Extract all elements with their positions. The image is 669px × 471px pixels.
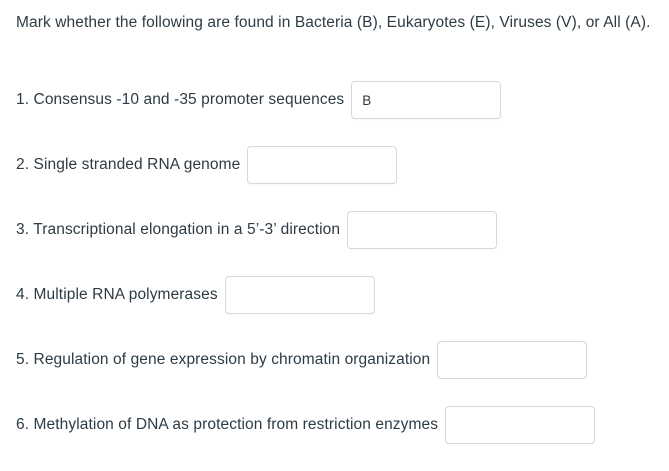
question-row: 2. Single stranded RNA genome xyxy=(16,146,397,184)
answer-input-2[interactable] xyxy=(247,146,397,184)
answer-input-3[interactable] xyxy=(347,211,497,249)
question-row: 3. Transcriptional elongation in a 5’-3’… xyxy=(16,211,497,249)
answer-input-1[interactable] xyxy=(351,81,501,119)
answer-input-6[interactable] xyxy=(445,406,595,444)
question-label-6: 6. Methylation of DNA as protection from… xyxy=(16,415,445,435)
question-label-1: 1. Consensus -10 and -35 promoter sequen… xyxy=(16,90,351,110)
question-row: 4. Multiple RNA polymerases xyxy=(16,276,375,314)
question-label-3: 3. Transcriptional elongation in a 5’-3’… xyxy=(16,220,347,240)
question-row: 5. Regulation of gene expression by chro… xyxy=(16,341,587,379)
question-label-4: 4. Multiple RNA polymerases xyxy=(16,285,225,305)
answer-input-5[interactable] xyxy=(437,341,587,379)
question-row: 1. Consensus -10 and -35 promoter sequen… xyxy=(16,81,501,119)
answer-input-4[interactable] xyxy=(225,276,375,314)
question-label-2: 2. Single stranded RNA genome xyxy=(16,155,247,175)
question-label-5: 5. Regulation of gene expression by chro… xyxy=(16,350,437,370)
question-row: 6. Methylation of DNA as protection from… xyxy=(16,406,595,444)
quiz-question-body: Mark whether the following are found in … xyxy=(0,0,669,471)
question-prompt: Mark whether the following are found in … xyxy=(16,10,656,36)
